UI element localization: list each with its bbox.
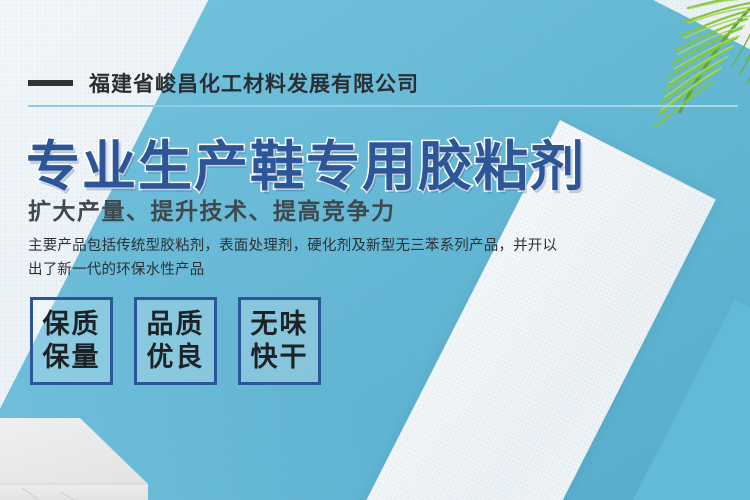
badge-line-2: 保量 [43, 342, 101, 374]
body-copy: 主要产品包括传统型胶粘剂，表面处理剂，硬化剂及新型无三苯系列产品，并开以 出了新… [28, 234, 588, 282]
badge-odorless-fastdry: 无味 快干 [238, 297, 321, 385]
badge-line-2: 优良 [147, 342, 205, 374]
body-line-2: 出了新一代的环保水性产品 [28, 258, 588, 282]
company-name: 福建省峻昌化工材料发展有限公司 [89, 68, 419, 98]
badge-group: 保质 保量 品质 优良 无味 快干 [30, 297, 321, 385]
badge-line-1: 无味 [251, 309, 309, 341]
badge-line-1: 品质 [147, 309, 205, 341]
company-row: 福建省峻昌化工材料发展有限公司 [28, 68, 419, 98]
body-line-1: 主要产品包括传统型胶粘剂，表面处理剂，硬化剂及新型无三苯系列产品，并开以 [28, 234, 588, 258]
horizontal-dash-icon [28, 80, 73, 86]
content-column: 福建省峻昌化工材料发展有限公司 专业生产鞋专用胶粘剂 扩大产量、提升技术、提高竞… [28, 0, 628, 500]
badge-quality-quantity: 保质 保量 [30, 297, 113, 385]
subheadline: 扩大产量、提升技术、提高竞争力 [28, 192, 396, 226]
badge-line-1: 保质 [43, 309, 101, 341]
headline: 专业生产鞋专用胶粘剂 [26, 122, 586, 201]
divider-line [28, 105, 738, 107]
badge-line-2: 快干 [251, 342, 309, 374]
promotional-banner: 福建省峻昌化工材料发展有限公司 专业生产鞋专用胶粘剂 扩大产量、提升技术、提高竞… [0, 0, 750, 500]
badge-excellent-quality: 品质 优良 [134, 297, 217, 385]
